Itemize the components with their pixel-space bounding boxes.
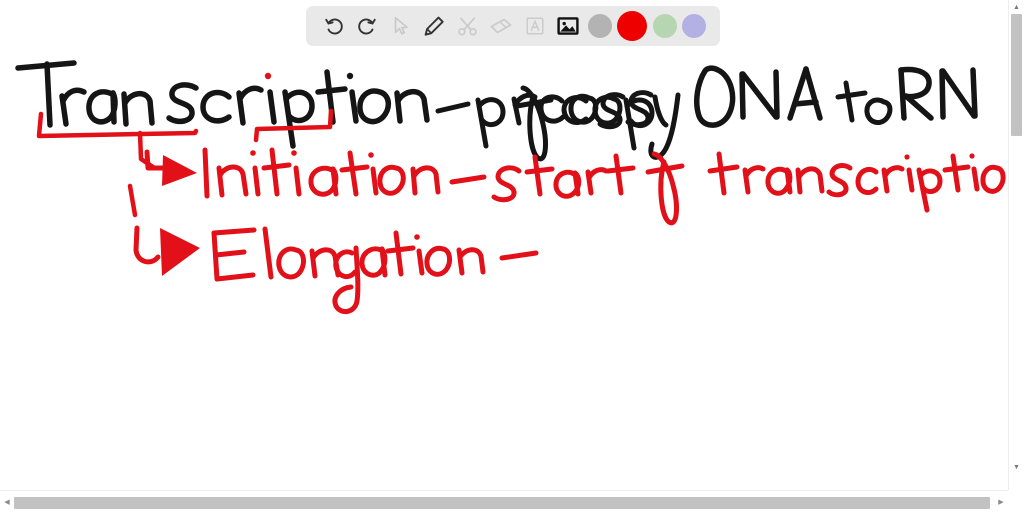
eraser-icon[interactable] [487, 12, 515, 40]
drawing-canvas[interactable]: .bk { fill:none; stroke:#151515; stroke-… [0, 0, 1008, 490]
whiteboard-app: .bk { fill:none; stroke:#151515; stroke-… [0, 0, 1024, 514]
drawing-toolbar[interactable] [306, 6, 720, 46]
scroll-left-icon[interactable]: ◀ [0, 495, 14, 510]
vertical-scrollbar[interactable]: ▲ ▼ [1008, 0, 1024, 490]
handwriting-line-initiation [147, 150, 1003, 223]
scroll-down-icon[interactable]: ▼ [1009, 460, 1024, 474]
image-icon[interactable] [554, 12, 582, 40]
horizontal-scrollbar[interactable]: ◀ ▶ [0, 490, 1024, 514]
color-swatch-purple[interactable] [682, 14, 706, 38]
scrollbar-corner [1008, 490, 1024, 514]
ink-layer: .bk { fill:none; stroke:#151515; stroke-… [0, 0, 1008, 490]
vertical-scrollbar-thumb[interactable] [1011, 14, 1022, 136]
scissors-icon[interactable] [454, 12, 482, 40]
color-swatch-green[interactable] [653, 14, 677, 38]
red-annotation-brackets [39, 111, 331, 215]
undo-icon[interactable] [320, 12, 348, 40]
pencil-icon[interactable] [420, 12, 448, 40]
color-swatch-gray[interactable] [588, 14, 612, 38]
horizontal-scrollbar-thumb[interactable] [14, 497, 990, 509]
redo-icon[interactable] [353, 12, 381, 40]
cursor-icon[interactable] [387, 12, 415, 40]
scroll-up-icon[interactable]: ▲ [1009, 0, 1024, 14]
color-swatch-red[interactable] [617, 11, 647, 41]
handwriting-line-title [18, 63, 975, 159]
handwriting-line-elongation [136, 228, 536, 312]
text-icon[interactable] [521, 12, 549, 40]
scroll-right-icon[interactable]: ▶ [994, 495, 1008, 510]
